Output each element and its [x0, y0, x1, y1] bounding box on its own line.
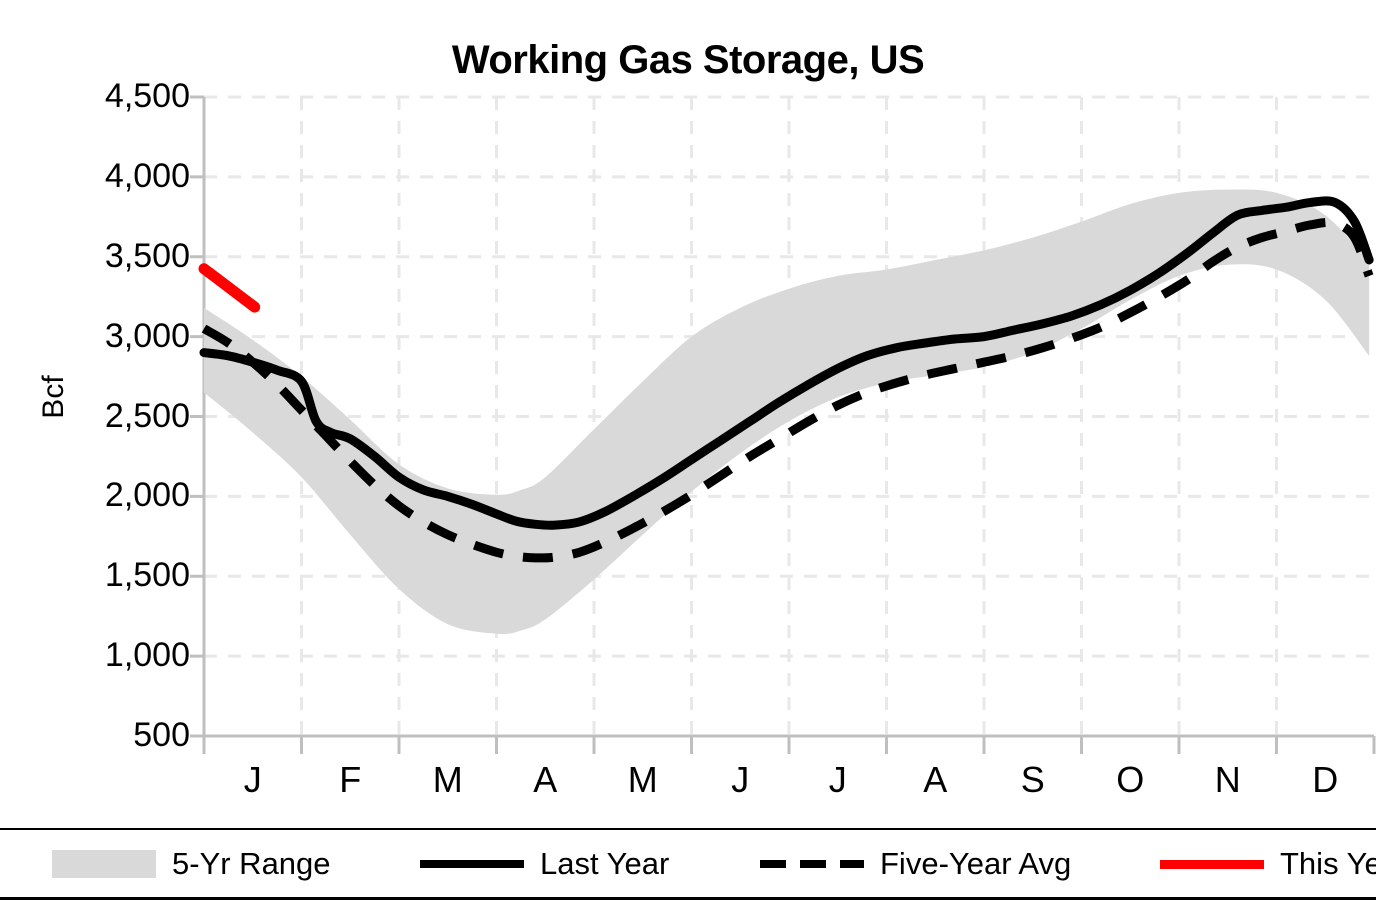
chart-legend: 5-Yr RangeLast YearFive-Year AvgThis Yea…: [0, 828, 1376, 900]
series-this-year-line: [204, 269, 255, 307]
legend-marker-icon: [1160, 860, 1264, 869]
working-gas-storage-chart: Working Gas Storage, US Bcf 4,5004,0003,…: [0, 0, 1376, 900]
legend-item[interactable]: Five-Year Avg: [760, 830, 1071, 898]
legend-item-label: Five-Year Avg: [880, 847, 1071, 881]
legend-marker-icon: [52, 850, 156, 878]
legend-marker-icon: [760, 860, 864, 868]
legend-item[interactable]: 5-Yr Range: [52, 830, 331, 898]
legend-item[interactable]: Last Year: [420, 830, 669, 898]
legend-item-label: Last Year: [540, 847, 669, 881]
legend-marker-icon: [420, 860, 524, 868]
legend-item-label: 5-Yr Range: [172, 847, 331, 881]
legend-item-label: This Year: [1280, 847, 1376, 881]
plot-area: [0, 0, 1376, 900]
legend-item[interactable]: This Year: [1160, 830, 1376, 898]
